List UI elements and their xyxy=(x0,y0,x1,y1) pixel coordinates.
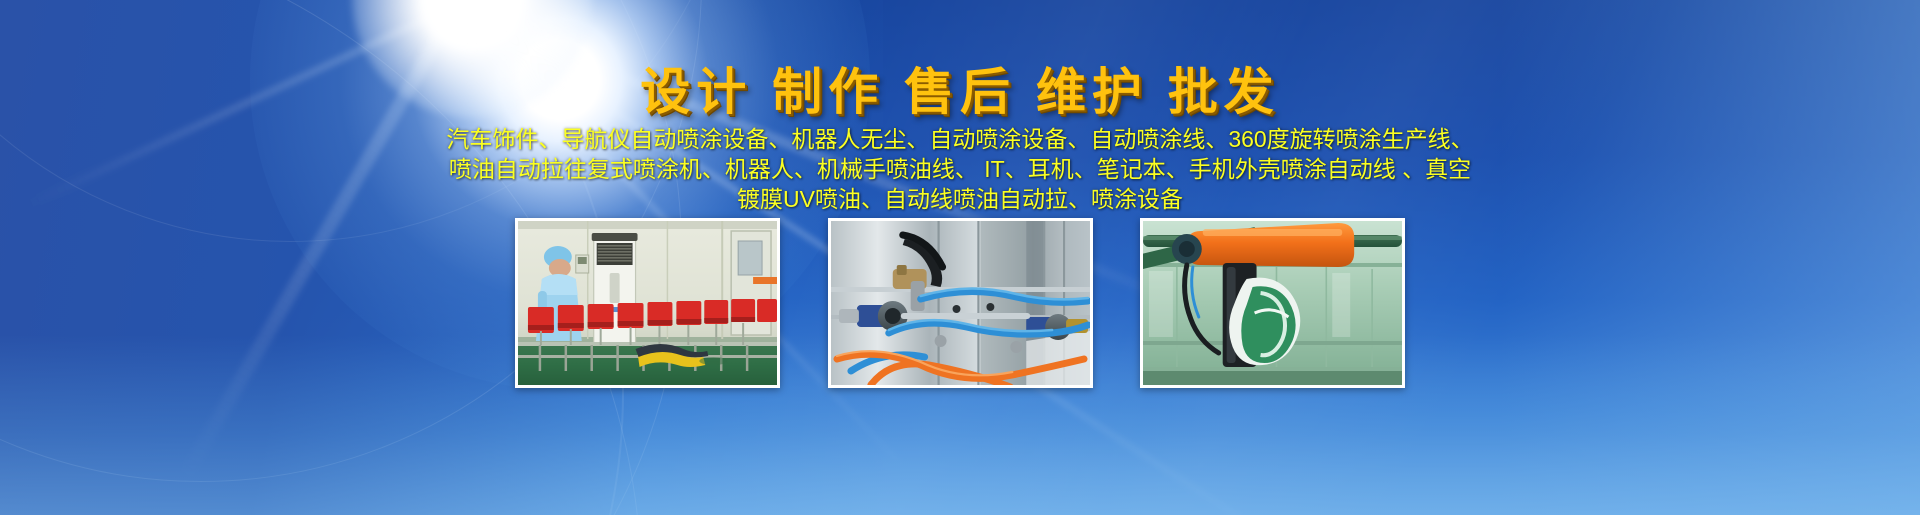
banner-headline: 设计 制作 售后 维护 批发 xyxy=(0,52,1920,124)
photo-robot-spray-arm[interactable] xyxy=(1140,218,1405,388)
photo-cleanroom-coating-line-image xyxy=(518,221,777,385)
photo-gallery xyxy=(515,218,1405,388)
photo-spray-gun-assembly-image xyxy=(831,221,1090,385)
photo-cleanroom-coating-line[interactable] xyxy=(515,218,780,388)
banner-subtitle: 汽车饰件、导航仪自动喷涂设备、机器人无尘、自动喷涂设备、自动喷涂线、360度旋转… xyxy=(445,124,1475,214)
photo-spray-gun-assembly[interactable] xyxy=(828,218,1093,388)
photo-robot-spray-arm-image xyxy=(1143,221,1402,385)
banner-content: 设计 制作 售后 维护 批发 汽车饰件、导航仪自动喷涂设备、机器人无尘、自动喷涂… xyxy=(0,0,1920,515)
promo-banner: 设计 制作 售后 维护 批发 汽车饰件、导航仪自动喷涂设备、机器人无尘、自动喷涂… xyxy=(0,0,1920,515)
